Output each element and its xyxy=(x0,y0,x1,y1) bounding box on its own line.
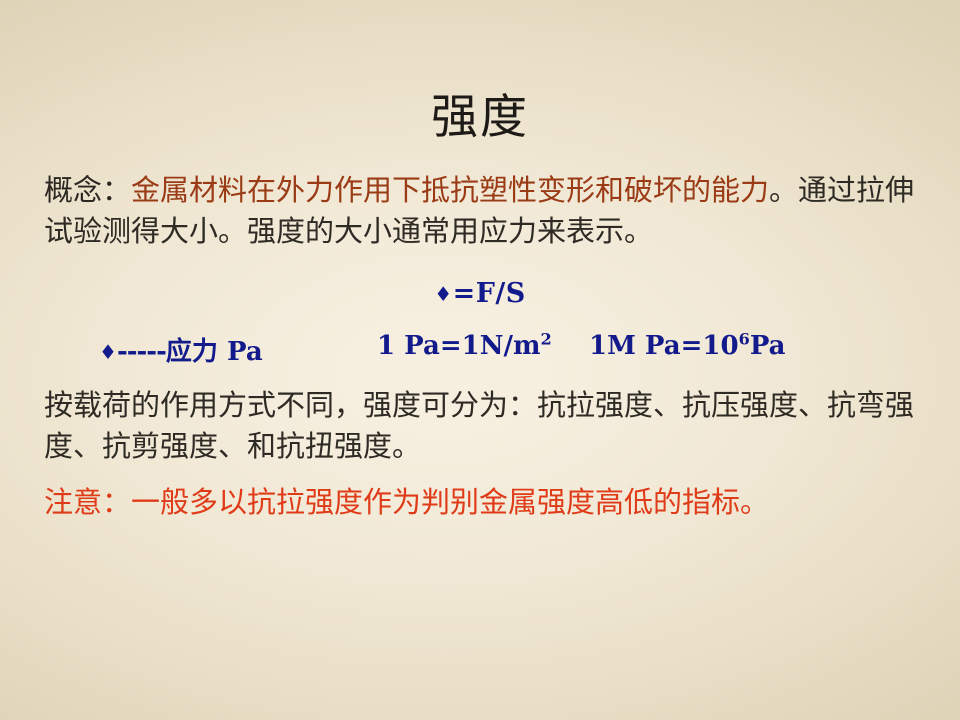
megapascal-identity-exponent: 6 xyxy=(739,329,750,348)
stress-equation: ♦=F/S xyxy=(0,278,960,309)
sigma-diamond-icon: ♦ xyxy=(434,282,452,306)
pascal-identity-text: 1 Pa=1N/m xyxy=(377,331,541,361)
stress-unit-label: Pa xyxy=(227,337,263,367)
megapascal-identity-prefix: 1M Pa=10 xyxy=(589,331,739,361)
strength-types-paragraph: 按载荷的作用方式不同，强度可分为：抗拉强度、抗压强度、抗弯强度、抗剪强度、和抗扭… xyxy=(44,385,924,467)
sigma-diamond-icon: ♦ xyxy=(99,340,117,364)
page-title: 强度 xyxy=(0,92,960,144)
concept-label: 概念： xyxy=(44,173,131,207)
note-paragraph: 注意：一般多以抗拉强度作为判别金属强度高低的指标。 xyxy=(44,482,924,523)
concept-paragraph: 概念：金属材料在外力作用下抵抗塑性变形和破坏的能力。通过拉伸试验测得大小。强度的… xyxy=(44,170,924,252)
megapascal-identity: 1M Pa=106Pa xyxy=(589,331,786,361)
megapascal-identity-suffix: Pa xyxy=(750,331,786,361)
leader-dashes: ----- xyxy=(117,337,166,367)
stress-name-label: 应力 xyxy=(166,337,218,367)
stress-equation-text: =F/S xyxy=(453,278,526,309)
pascal-identity-exponent: 2 xyxy=(541,329,552,348)
slide-canvas: 强度 概念：金属材料在外力作用下抵抗塑性变形和破坏的能力。通过拉伸试验测得大小。… xyxy=(0,0,960,720)
stress-unit-legend: ♦-----应力 Pa xyxy=(99,331,263,368)
pascal-identity: 1 Pa=1N/m2 xyxy=(377,331,552,361)
concept-definition: 金属材料在外力作用下抵抗塑性变形和破坏的能力 xyxy=(131,173,769,207)
